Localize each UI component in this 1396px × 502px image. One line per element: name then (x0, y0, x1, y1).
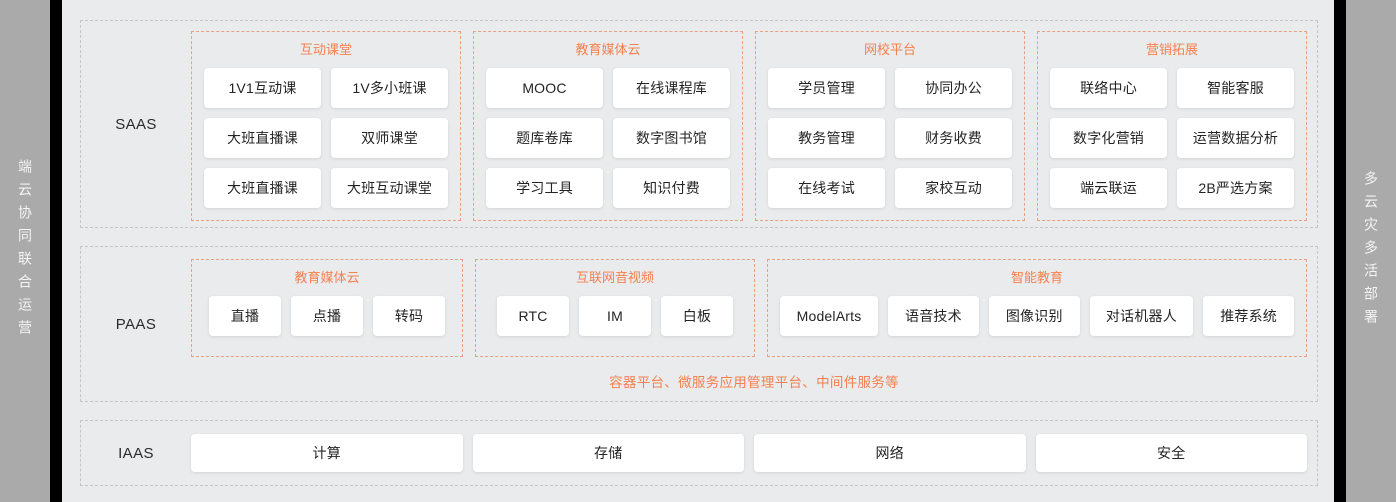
service-card[interactable]: 白板 (661, 296, 733, 336)
service-card[interactable]: 计算 (191, 434, 463, 472)
service-card[interactable]: 联络中心 (1050, 68, 1167, 108)
saas-groups-row: 互动课堂 1V1互动课 1V多小班课 大班直播课 双师课堂 大班直播课 大班互动… (191, 21, 1317, 231)
service-card[interactable]: 财务收费 (895, 118, 1012, 158)
service-card[interactable]: 在线考试 (768, 168, 885, 208)
service-card[interactable]: 转码 (373, 296, 445, 336)
service-card[interactable]: 大班互动课堂 (331, 168, 448, 208)
service-card[interactable]: 图像识别 (989, 296, 1080, 336)
service-card[interactable]: 数字图书馆 (613, 118, 730, 158)
layer-saas: SAAS 互动课堂 1V1互动课 1V多小班课 大班直播课 双师课堂 大班直播课… (80, 20, 1318, 228)
architecture-diagram: 端云协同联合运营 SAAS 互动课堂 1V1互动课 1V多小班课 大班直播课 双… (0, 0, 1396, 502)
service-card[interactable]: 数字化营销 (1050, 118, 1167, 158)
service-card[interactable]: 端云联运 (1050, 168, 1167, 208)
service-card[interactable]: 2B严选方案 (1177, 168, 1294, 208)
group-paas-2: 智能教育 ModelArts 语音技术 图像识别 对话机器人 推荐系统 (767, 259, 1307, 357)
paas-footnote: 容器平台、微服务应用管理平台、中间件服务等 (191, 357, 1317, 401)
group-items: RTC IM 白板 (488, 296, 742, 344)
service-card[interactable]: 大班直播课 (204, 168, 321, 208)
service-card[interactable]: 智能客服 (1177, 68, 1294, 108)
group-title: 互联网音视频 (488, 268, 742, 288)
layer-paas-body: 教育媒体云 直播 点播 转码 互联网音视频 RTC IM 白板 (191, 247, 1317, 401)
group-saas-2: 网校平台 学员管理 协同办公 教务管理 财务收费 在线考试 家校互动 (755, 31, 1025, 221)
service-card[interactable]: 1V多小班课 (331, 68, 448, 108)
service-card[interactable]: 双师课堂 (331, 118, 448, 158)
group-paas-0: 教育媒体云 直播 点播 转码 (191, 259, 463, 357)
service-card[interactable]: 存储 (473, 434, 745, 472)
group-title: 智能教育 (780, 268, 1294, 288)
layer-iaas: IAAS 计算 存储 网络 安全 (80, 420, 1318, 486)
right-rail-divider (1334, 0, 1346, 502)
group-items: 直播 点播 转码 (204, 296, 450, 344)
service-card[interactable]: 家校互动 (895, 168, 1012, 208)
group-paas-1: 互联网音视频 RTC IM 白板 (475, 259, 755, 357)
service-card[interactable]: 推荐系统 (1203, 296, 1294, 336)
service-card[interactable]: 学习工具 (486, 168, 603, 208)
service-card[interactable]: 协同办公 (895, 68, 1012, 108)
service-card[interactable]: 对话机器人 (1090, 296, 1194, 336)
service-card[interactable]: 在线课程库 (613, 68, 730, 108)
right-rail-label: 多云灾多活部署 (1364, 171, 1378, 332)
service-card[interactable]: 网络 (754, 434, 1026, 472)
service-card[interactable]: 直播 (209, 296, 281, 336)
service-card[interactable]: ModelArts (780, 296, 878, 336)
paas-groups-row: 教育媒体云 直播 点播 转码 互联网音视频 RTC IM 白板 (191, 247, 1317, 357)
service-card[interactable]: 安全 (1036, 434, 1308, 472)
layer-iaas-label: IAAS (81, 421, 191, 485)
group-title: 教育媒体云 (204, 268, 450, 288)
service-card[interactable]: MOOC (486, 68, 603, 108)
service-card[interactable]: RTC (497, 296, 569, 336)
layer-saas-body: 互动课堂 1V1互动课 1V多小班课 大班直播课 双师课堂 大班直播课 大班互动… (191, 21, 1317, 227)
group-title: 网校平台 (768, 40, 1012, 60)
left-rail-label: 端云协同联合运营 (18, 159, 32, 343)
layer-paas: PAAS 教育媒体云 直播 点播 转码 互联网音视频 RTC (80, 246, 1318, 402)
group-items: MOOC 在线课程库 题库卷库 数字图书馆 学习工具 知识付费 (486, 68, 730, 208)
service-card[interactable]: 语音技术 (888, 296, 979, 336)
group-title: 互动课堂 (204, 40, 448, 60)
service-card[interactable]: 1V1互动课 (204, 68, 321, 108)
group-saas-1: 教育媒体云 MOOC 在线课程库 题库卷库 数字图书馆 学习工具 知识付费 (473, 31, 743, 221)
layer-saas-label: SAAS (81, 21, 191, 227)
service-card[interactable]: 题库卷库 (486, 118, 603, 158)
group-saas-0: 互动课堂 1V1互动课 1V多小班课 大班直播课 双师课堂 大班直播课 大班互动… (191, 31, 461, 221)
layer-iaas-body: 计算 存储 网络 安全 (191, 421, 1317, 485)
diagram-canvas: SAAS 互动课堂 1V1互动课 1V多小班课 大班直播课 双师课堂 大班直播课… (62, 0, 1334, 502)
service-card[interactable]: 学员管理 (768, 68, 885, 108)
group-items: ModelArts 语音技术 图像识别 对话机器人 推荐系统 (780, 296, 1294, 344)
service-card[interactable]: IM (579, 296, 651, 336)
iaas-items-row: 计算 存储 网络 安全 (191, 421, 1317, 485)
group-items: 1V1互动课 1V多小班课 大班直播课 双师课堂 大班直播课 大班互动课堂 (204, 68, 448, 208)
group-title: 营销拓展 (1050, 40, 1294, 60)
group-items: 学员管理 协同办公 教务管理 财务收费 在线考试 家校互动 (768, 68, 1012, 208)
left-rail: 端云协同联合运营 (0, 0, 50, 502)
service-card[interactable]: 点播 (291, 296, 363, 336)
group-saas-3: 营销拓展 联络中心 智能客服 数字化营销 运营数据分析 端云联运 2B严选方案 (1037, 31, 1307, 221)
left-rail-divider (50, 0, 62, 502)
service-card[interactable]: 知识付费 (613, 168, 730, 208)
service-card[interactable]: 运营数据分析 (1177, 118, 1294, 158)
layer-paas-label: PAAS (81, 247, 191, 401)
group-items: 联络中心 智能客服 数字化营销 运营数据分析 端云联运 2B严选方案 (1050, 68, 1294, 208)
group-title: 教育媒体云 (486, 40, 730, 60)
right-rail: 多云灾多活部署 (1346, 0, 1396, 502)
service-card[interactable]: 教务管理 (768, 118, 885, 158)
service-card[interactable]: 大班直播课 (204, 118, 321, 158)
